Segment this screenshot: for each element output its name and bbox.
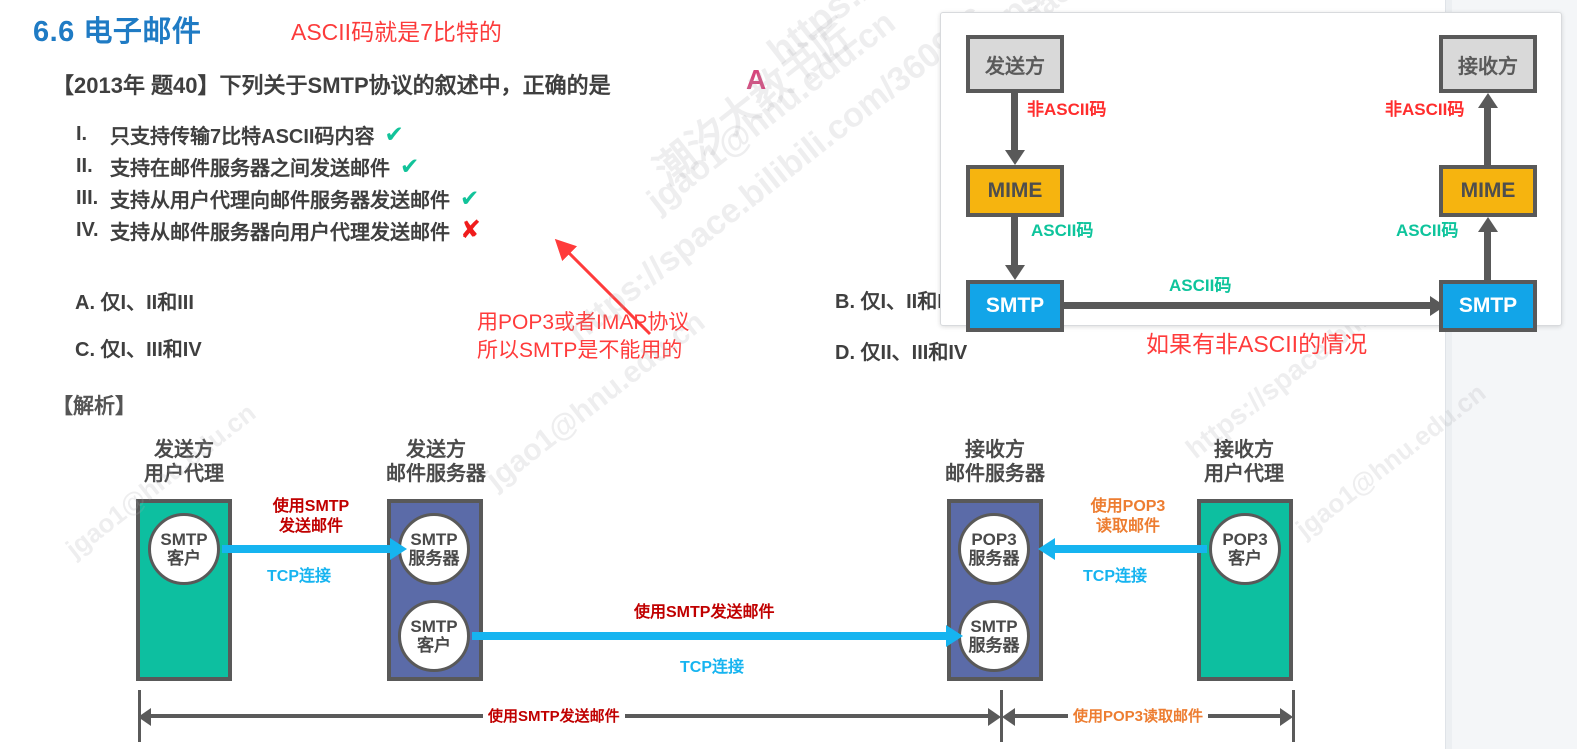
node-smtp-server-1: SMTP 服务器 [398,513,470,585]
cross-icon: ✘ [460,215,481,245]
col4-label: 接收方 用户代理 [1170,438,1318,487]
col4-label-line1: 接收方 [1170,438,1318,462]
arrow-shaft [1484,108,1491,165]
analysis-label: 【解析】 [52,390,136,420]
node-line2: 服务器 [969,549,1020,568]
list-item: III. 支持从用户代理向邮件服务器发送邮件 ✔ [76,182,481,214]
statement-number: III. [76,187,110,210]
statement-number: II. [76,155,110,178]
choice-a: A. 仅I、II和III [75,286,194,315]
node-line2: 客户 [167,549,201,568]
sender-box: 发送方 [966,35,1064,93]
node-line1: POP3 [1222,530,1267,549]
check-icon: ✔ [400,153,419,180]
node-smtp-client-1: SMTP 客户 [148,513,220,585]
node-line1: SMTP [410,530,457,549]
arrow3-shaft [1055,545,1207,553]
bracket-right-head-end-icon [1280,708,1293,726]
arrow3-label-line1: 使用POP3 [1074,497,1182,517]
col1-label-line1: 发送方 [110,438,258,462]
arrow1-label-line2: 发送邮件 [256,517,366,537]
mime-box-left: MIME [966,165,1064,217]
arrow3-sublabel: TCP连接 [1083,562,1147,586]
col2-label: 发送方 邮件服务器 [358,438,514,487]
arrow-head-up-icon [1478,93,1498,108]
statement-list: I. 只支持传输7比特ASCII码内容 ✔ II. 支持在邮件服务器之间发送邮件… [76,118,481,246]
arrow3-label-line2: 读取邮件 [1074,517,1182,537]
arrow3-head-left-icon [1038,538,1055,560]
statement-number: IV. [76,219,110,242]
label-ascii-left: ASCII码 [1031,216,1093,241]
col2-label-line1: 发送方 [358,438,514,462]
choice-c: C. 仅I、III和IV [75,333,202,362]
label-non-ascii-right: 非ASCII码 [1385,95,1464,120]
col3-label-line2: 邮件服务器 [917,462,1073,486]
arrow-shaft-horizontal [1064,302,1434,309]
check-icon: ✔ [384,121,403,148]
col1-label-line2: 用户代理 [110,462,258,486]
annotation-text: 用POP3或者IMAP协议 所以SMTP是不能用的 [477,309,689,364]
statement-text: 支持从用户代理向邮件服务器发送邮件 [110,184,450,213]
mime-panel-caption: 如果有非ASCII的情况 [1146,325,1367,359]
label-ascii-middle: ASCII码 [1169,271,1231,296]
col2-label-line2: 邮件服务器 [358,462,514,486]
arrow2-sublabel: TCP连接 [680,653,744,677]
node-smtp-server-2: SMTP 服务器 [958,600,1030,672]
node-line2: 客户 [417,636,451,655]
arrow1-label: 使用SMTP 发送邮件 [256,497,366,537]
node-line2: 服务器 [969,636,1020,655]
arrow-head-down-icon [1005,265,1025,280]
smtp-box-left: SMTP [966,280,1064,332]
choice-d: D. 仅II、III和IV [835,336,967,365]
arrow3-label: 使用POP3 读取邮件 [1074,497,1182,537]
arrow2-shaft [472,632,948,640]
node-smtp-client-2: SMTP 客户 [398,600,470,672]
statement-text: 支持在邮件服务器之间发送邮件 [110,152,390,181]
watermark-text: 潮汐大教书匠 [640,2,865,195]
section-title: 6.6 电子邮件 [33,8,201,50]
node-line2: 服务器 [409,549,460,568]
statement-number: I. [76,123,110,146]
bracket-left-label: 使用SMTP发送邮件 [483,705,625,726]
node-line1: POP3 [971,530,1016,549]
watermark-text: jgao1@hnu.edu.cn [640,3,903,220]
bracket-right-head-start-icon [1002,708,1015,726]
list-item: IV. 支持从邮件服务器向用户代理发送邮件 ✘ [76,214,481,246]
answer-mark: A [746,64,766,96]
annotation-line-2: 所以SMTP是不能用的 [477,337,689,365]
col3-label-line1: 接收方 [917,438,1073,462]
statement-text: 只支持传输7比特ASCII码内容 [110,120,374,149]
bracket-right-label: 使用POP3读取邮件 [1068,705,1208,726]
list-item: I. 只支持传输7比特ASCII码内容 ✔ [76,118,481,150]
arrow1-sublabel: TCP连接 [267,562,331,586]
node-line2: 客户 [1228,549,1262,568]
slide-page: https://space.bilibili.com/360996 jgao1@… [0,0,1577,749]
col4-label-line2: 用户代理 [1170,462,1318,486]
bracket-left-head-start-icon [138,708,151,726]
arrow2-label: 使用SMTP发送邮件 [634,603,774,623]
arrow1-head-right-icon [390,538,407,560]
statement-text: 支持从邮件服务器向用户代理发送邮件 [110,216,450,245]
mime-flow-panel: 发送方 非ASCII码 MIME ASCII码 SMTP ASCII码 接收方 … [940,12,1562,326]
node-line1: SMTP [970,617,1017,636]
arrow-shaft [1011,217,1018,269]
choice-b: B. 仅I、II和IV [835,285,956,314]
label-ascii-right: ASCII码 [1396,216,1458,241]
check-icon: ✔ [460,185,479,212]
mime-box-right: MIME [1439,165,1537,217]
annotation-line-1: 用POP3或者IMAP协议 [477,309,689,337]
list-item: II. 支持在邮件服务器之间发送邮件 ✔ [76,150,481,182]
node-pop3-server: POP3 服务器 [958,513,1030,585]
receiver-box: 接收方 [1439,35,1537,93]
node-line1: SMTP [160,530,207,549]
col3-label: 接收方 邮件服务器 [917,438,1073,487]
arrow1-label-line1: 使用SMTP [256,497,366,517]
node-line1: SMTP [410,617,457,636]
node-pop3-client: POP3 客户 [1209,513,1281,585]
arrow-shaft [1011,93,1018,153]
bracket-left-head-end-icon [988,708,1001,726]
col1-label: 发送方 用户代理 [110,438,258,487]
arrow-shaft [1484,232,1491,280]
arrow1-shaft [222,545,392,553]
arrow-head-down-icon [1005,150,1025,165]
ascii-note: ASCII码就是7比特的 [291,13,502,47]
arrow-head-up-icon [1478,217,1498,232]
arrow2-head-right-icon [946,625,963,647]
label-non-ascii-left: 非ASCII码 [1027,95,1106,120]
question-text: 【2013年 题40】下列关于SMTP协议的叙述中，正确的是 [52,68,611,100]
smtp-box-right: SMTP [1439,280,1537,332]
